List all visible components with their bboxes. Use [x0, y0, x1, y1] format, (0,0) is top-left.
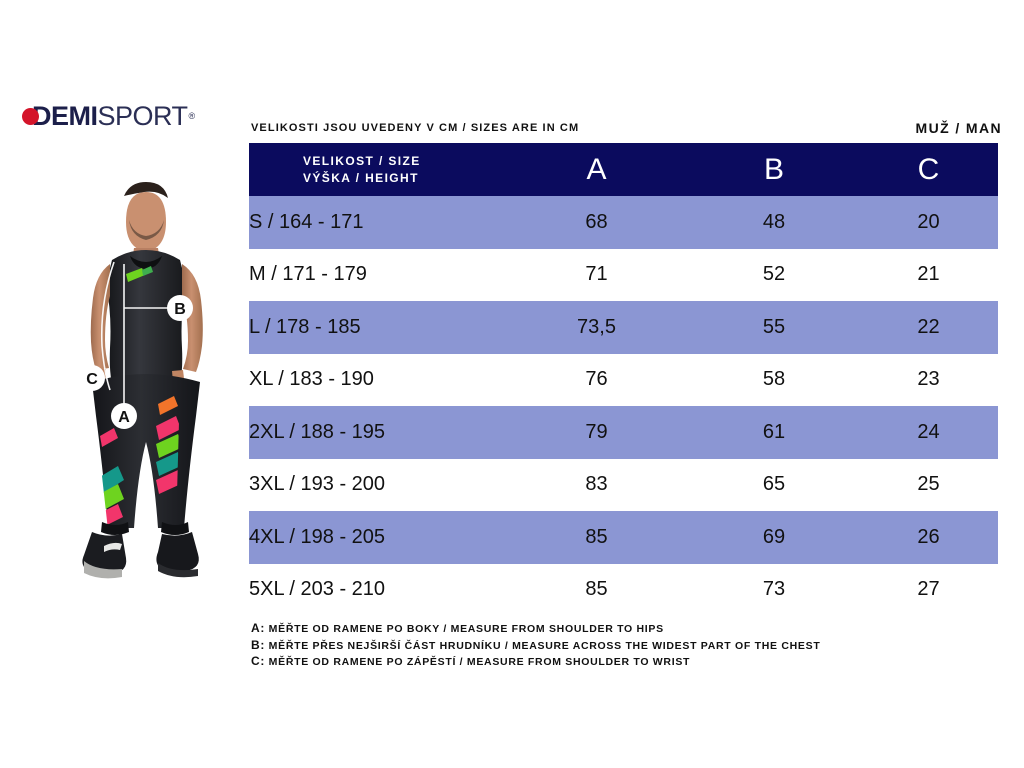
cell-size: 4XL / 198 - 205: [249, 511, 504, 564]
cell-size: S / 164 - 171: [249, 196, 504, 249]
cell-a: 76: [504, 354, 689, 407]
cell-b: 69: [689, 511, 859, 564]
cell-c: 27: [859, 564, 998, 617]
cell-c: 21: [859, 249, 998, 302]
cell-c: 23: [859, 354, 998, 407]
instruction-text: MĚŘTE OD RAMENE PO BOKY / MEASURE FROM S…: [265, 623, 664, 635]
model-photo: B C A: [30, 178, 265, 658]
table-row: 3XL / 193 - 200836525: [249, 459, 998, 512]
cell-a: 68: [504, 196, 689, 249]
cell-b: 55: [689, 301, 859, 354]
table-header: VELIKOST / SIZE VÝŠKA / HEIGHT A B C: [249, 143, 998, 196]
column-header-size-line2: VÝŠKA / HEIGHT: [303, 170, 504, 187]
cell-a: 85: [504, 564, 689, 617]
cell-c: 22: [859, 301, 998, 354]
model-shoes: [82, 532, 198, 578]
table-row: 2XL / 188 - 195796124: [249, 406, 998, 459]
measure-marker-c: C: [79, 365, 105, 391]
cell-size: M / 171 - 179: [249, 249, 504, 302]
gender-label: MUŽ / MAN: [916, 120, 1002, 136]
logo-dot-icon: [22, 108, 39, 125]
cell-a: 79: [504, 406, 689, 459]
cell-b: 58: [689, 354, 859, 407]
table-row: XL / 183 - 190765823: [249, 354, 998, 407]
instruction-line: B: MĚŘTE PŘES NEJŠIRŠÍ ČÁST HRUDNÍKU / M…: [251, 638, 820, 655]
sizes-unit-note: VELIKOSTI JSOU UVEDENY V CM / SIZES ARE …: [251, 122, 579, 134]
svg-text:A: A: [118, 409, 130, 426]
table-row: 5XL / 203 - 210857327: [249, 564, 998, 617]
column-header-size: VELIKOST / SIZE VÝŠKA / HEIGHT: [249, 143, 504, 196]
table-row: M / 171 - 179715221: [249, 249, 998, 302]
cell-b: 61: [689, 406, 859, 459]
table-row: S / 164 - 171684820: [249, 196, 998, 249]
column-header-c: C: [859, 143, 998, 196]
measurement-instructions: A: MĚŘTE OD RAMENE PO BOKY / MEASURE FRO…: [251, 621, 820, 671]
instruction-line: A: MĚŘTE OD RAMENE PO BOKY / MEASURE FRO…: [251, 621, 820, 638]
column-header-a: A: [504, 143, 689, 196]
cell-c: 20: [859, 196, 998, 249]
cell-b: 52: [689, 249, 859, 302]
measure-marker-b: B: [167, 295, 193, 321]
cell-size: 2XL / 188 - 195: [249, 406, 504, 459]
instruction-line: C: MĚŘTE OD RAMENE PO ZÁPĚSTÍ / MEASURE …: [251, 654, 820, 671]
cell-size: L / 178 - 185: [249, 301, 504, 354]
table-header-row: VELIKOST / SIZE VÝŠKA / HEIGHT A B C: [249, 143, 998, 196]
instruction-letter: C:: [251, 654, 265, 668]
registered-trademark-icon: ®: [189, 111, 196, 121]
brand-logo: DEMI SPORT ®: [22, 99, 222, 133]
cell-c: 24: [859, 406, 998, 459]
table-row: 4XL / 198 - 205856926: [249, 511, 998, 564]
cell-b: 73: [689, 564, 859, 617]
cell-size: 5XL / 203 - 210: [249, 564, 504, 617]
svg-text:C: C: [86, 371, 98, 388]
cell-a: 71: [504, 249, 689, 302]
cell-c: 25: [859, 459, 998, 512]
cell-b: 48: [689, 196, 859, 249]
cell-a: 73,5: [504, 301, 689, 354]
instruction-letter: A:: [251, 621, 265, 635]
size-chart-table: VELIKOST / SIZE VÝŠKA / HEIGHT A B C S /…: [249, 143, 998, 616]
column-header-size-line1: VELIKOST / SIZE: [303, 153, 504, 170]
cell-a: 85: [504, 511, 689, 564]
table-row: L / 178 - 18573,55522: [249, 301, 998, 354]
model-pants: [92, 374, 200, 535]
logo-text-demi: DEMI: [32, 103, 98, 130]
cell-b: 65: [689, 459, 859, 512]
cell-size: XL / 183 - 190: [249, 354, 504, 407]
cell-c: 26: [859, 511, 998, 564]
table-body: S / 164 - 171684820M / 171 - 179715221L …: [249, 196, 998, 616]
instruction-letter: B:: [251, 638, 265, 652]
instruction-text: MĚŘTE PŘES NEJŠIRŠÍ ČÁST HRUDNÍKU / MEAS…: [265, 640, 820, 652]
model-illustration: B C A: [30, 178, 265, 658]
logo-text-sport: SPORT: [98, 103, 188, 130]
instruction-text: MĚŘTE OD RAMENE PO ZÁPĚSTÍ / MEASURE FRO…: [265, 656, 690, 668]
cell-size: 3XL / 193 - 200: [249, 459, 504, 512]
cell-a: 83: [504, 459, 689, 512]
svg-text:B: B: [174, 301, 186, 318]
column-header-b: B: [689, 143, 859, 196]
measure-marker-a: A: [111, 403, 137, 429]
